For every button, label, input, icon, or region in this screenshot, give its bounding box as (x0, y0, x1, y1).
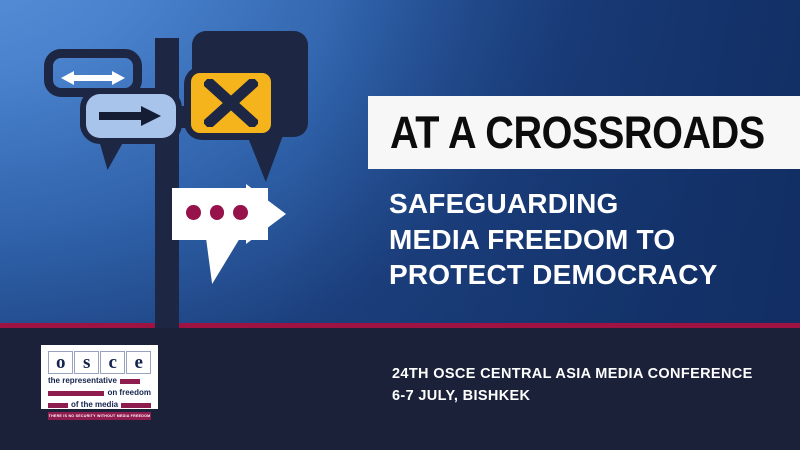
dot-2 (210, 205, 225, 220)
conference-date-location: 6-7 JULY, BISHKEK (392, 385, 753, 407)
osce-letter-c: c (100, 351, 125, 374)
osce-letter-o: o (48, 351, 73, 374)
white-speech-bubble-tail (206, 238, 240, 284)
logo-line-media: of the media (48, 400, 151, 410)
x-mark-icon (204, 79, 258, 127)
signpost-illustration (0, 0, 360, 330)
logo-bar-4 (121, 403, 151, 408)
page-title: AT A CROSSROADS (390, 110, 765, 155)
subtitle-line-1: SAFEGUARDING (389, 186, 789, 222)
conference-details: 24TH OSCE CENTRAL ASIA MEDIA CONFERENCE … (392, 363, 753, 408)
logo-bar-2 (48, 391, 104, 396)
poster-canvas: AT A CROSSROADS SAFEGUARDING MEDIA FREED… (0, 0, 800, 450)
signpost-pole (155, 38, 179, 328)
logo-text-3: of the media (71, 401, 118, 409)
logo-text-1: the representative (48, 377, 117, 385)
double-arrow-icon (61, 71, 125, 85)
osce-rfom-logo: o s c e the representative on freedom of… (41, 345, 158, 409)
subtitle-line-3: PROTECT DEMOCRACY (389, 257, 789, 293)
logo-text-2: on freedom (107, 389, 151, 397)
subtitle-line-2: MEDIA FREEDOM TO (389, 222, 789, 258)
x-sign-plate (191, 73, 271, 133)
dot-1 (186, 205, 201, 220)
subtitle: SAFEGUARDING MEDIA FREEDOM TO PROTECT DE… (389, 186, 789, 293)
logo-tagline: THERE IS NO SECURITY WITHOUT MEDIA FREED… (48, 412, 151, 420)
conference-name: 24TH OSCE CENTRAL ASIA MEDIA CONFERENCE (392, 363, 753, 385)
logo-line-freedom: on freedom (48, 388, 151, 398)
osce-letter-s: s (74, 351, 99, 374)
ellipsis-dots-icon (186, 205, 248, 223)
logo-line-representative: the representative (48, 376, 151, 386)
osce-wordmark: o s c e (48, 351, 151, 374)
title-band: AT A CROSSROADS (368, 96, 800, 169)
logo-bar-3 (48, 403, 68, 408)
osce-letter-e: e (126, 351, 151, 374)
right-arrow-sign-plate (86, 94, 176, 138)
dot-3 (233, 205, 248, 220)
logo-bar-1 (120, 379, 140, 384)
right-arrow-icon (99, 106, 161, 126)
